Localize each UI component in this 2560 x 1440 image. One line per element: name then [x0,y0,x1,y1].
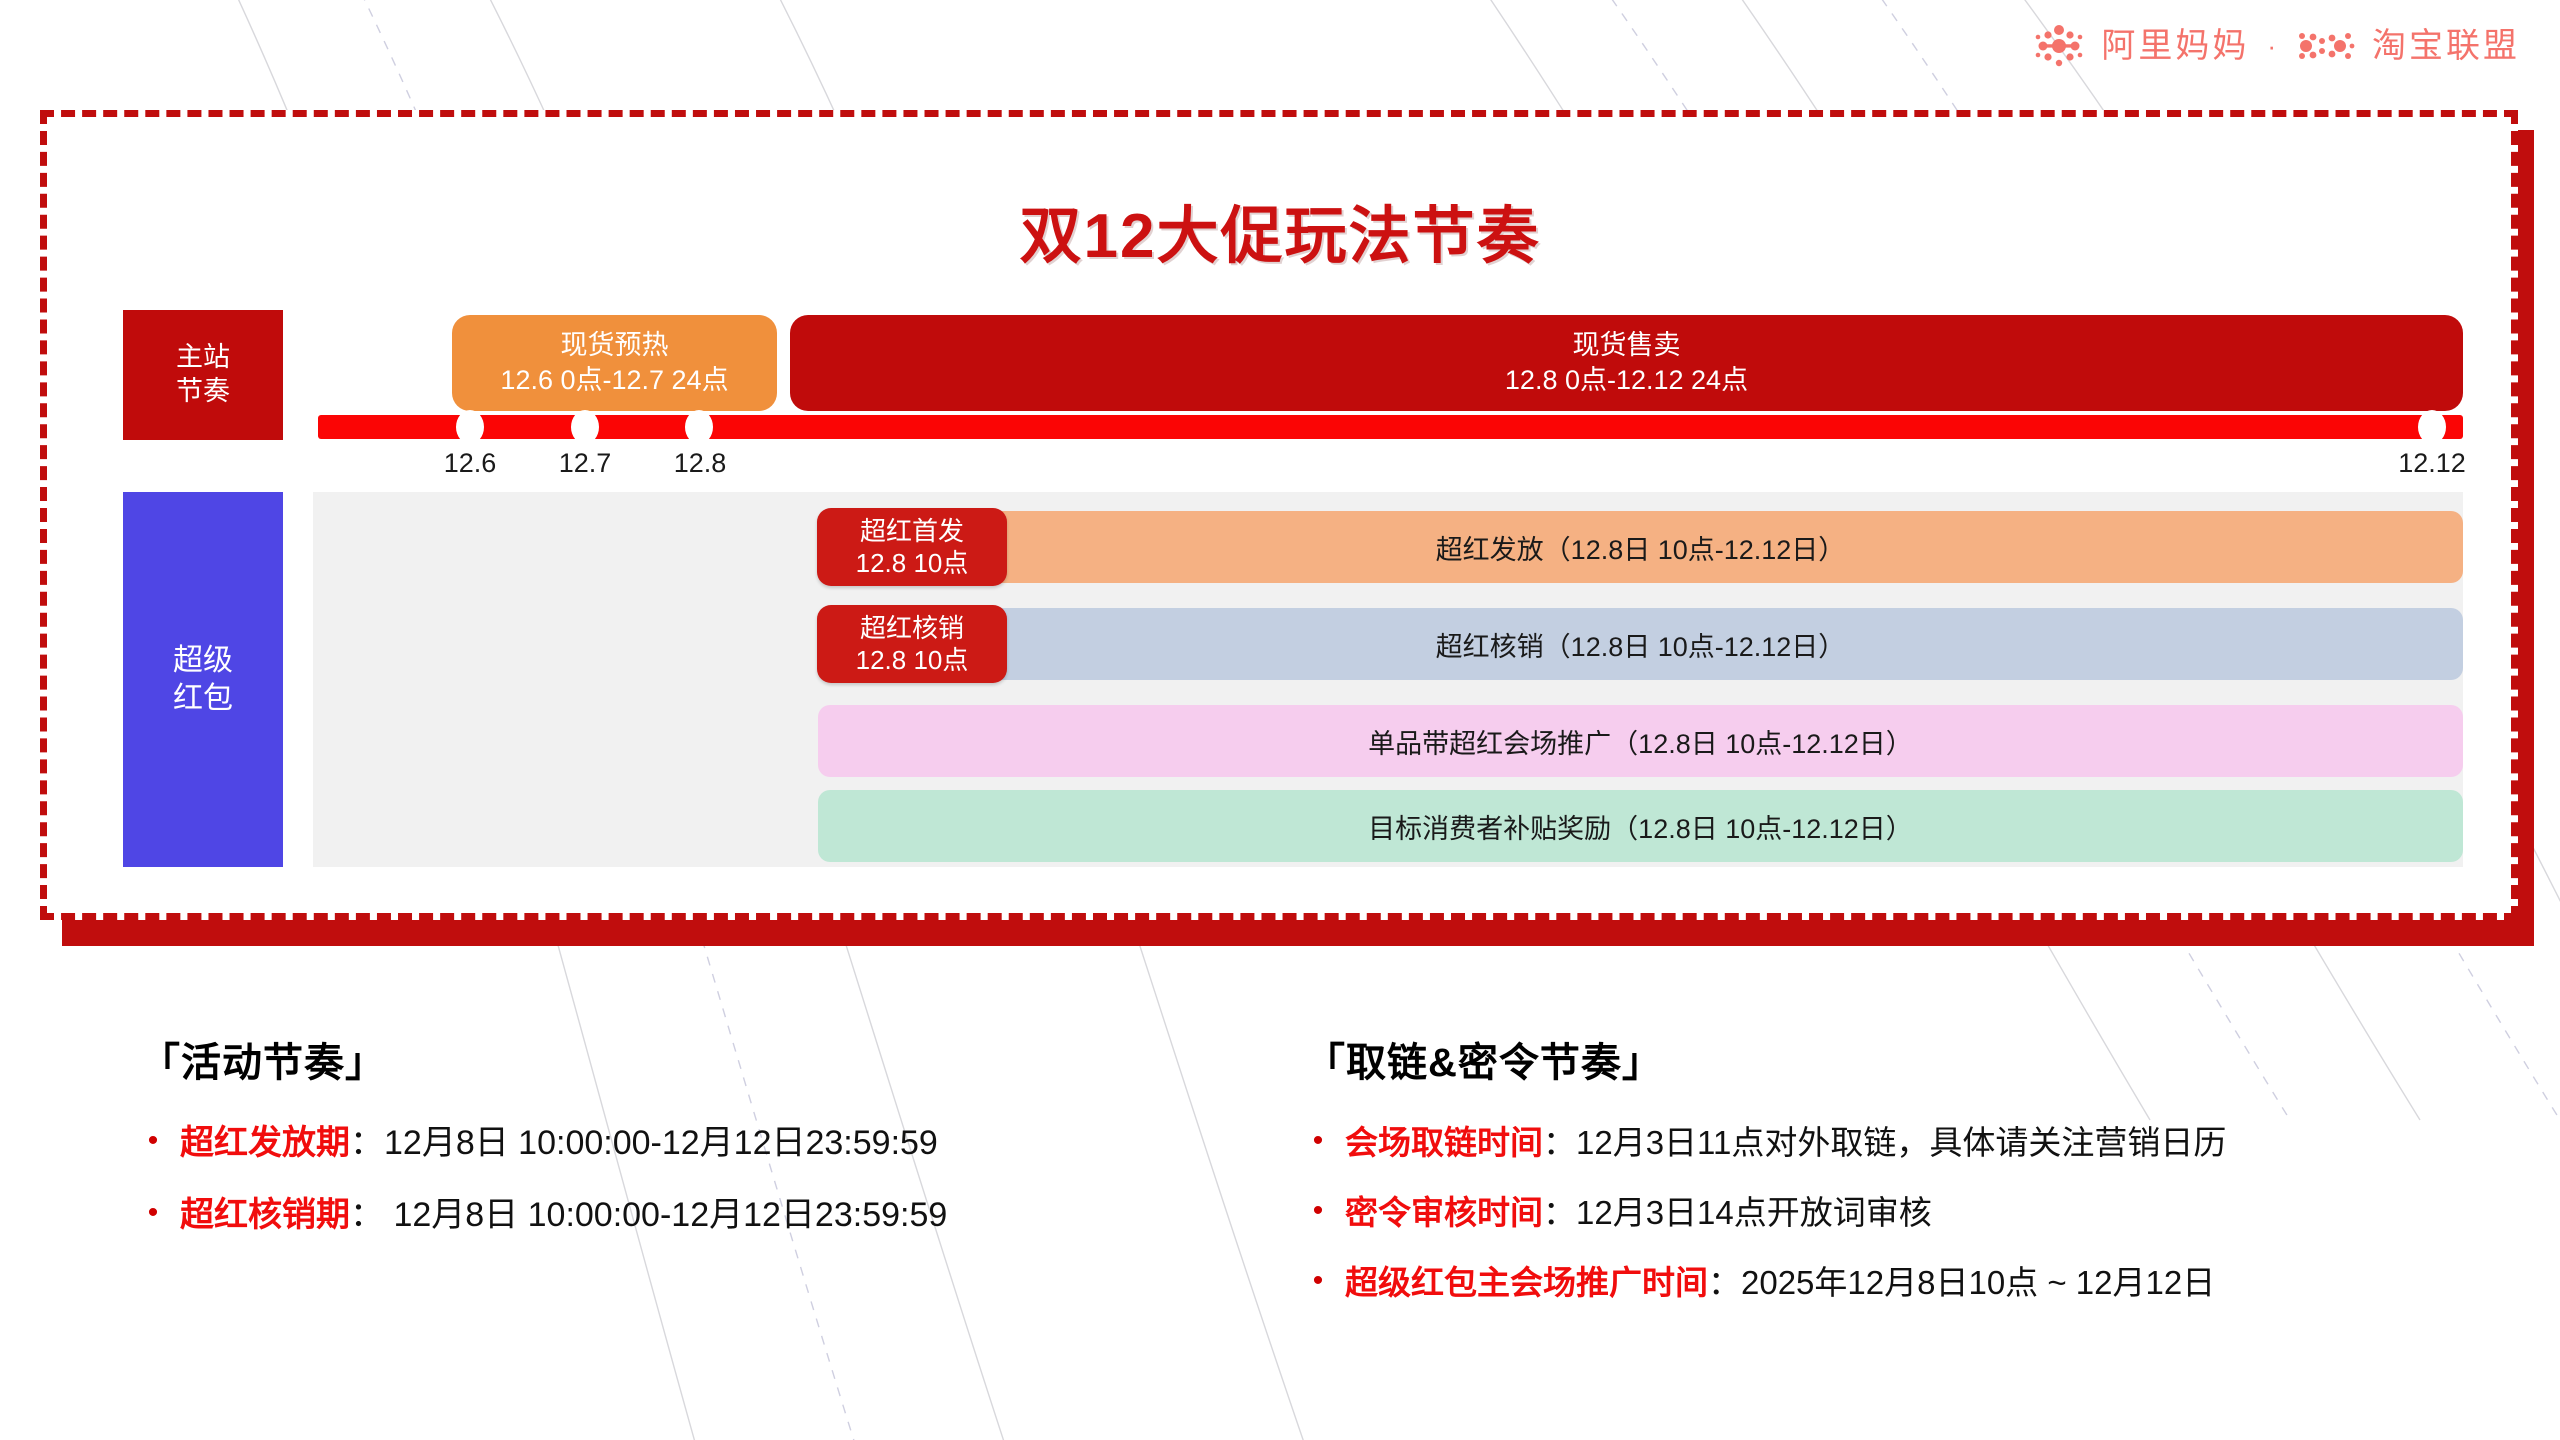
note-value: 2025年12月8日10点 ~ 12月12日 [1741,1264,2215,1301]
note-text: 超级红包主会场推广时间：2025年12月8日10点 ~ 12月12日 [1345,1262,2215,1304]
phase-preheat-name: 现货预热 [561,328,669,363]
timeline-dot-12-8 [685,410,713,444]
note-value: 12月8日 10:00:00-12月12日23:59:59 [384,1196,947,1234]
note-key: 会场取链时间 [1345,1124,1543,1161]
note-text: 超红发放期：12月8日 10:00:00-12月12日23:59:59 [180,1122,938,1166]
badge-2-time: 12.8 10点 [856,644,969,677]
phase-sale-range: 12.8 0点-12.12 24点 [1505,363,1748,398]
notes-activity-rhythm: 「活动节奏」 • 超红发放期：12月8日 10:00:00-12月12日23:5… [140,1030,1300,1265]
phase-sale-name: 现货售卖 [1573,328,1681,363]
note-item: • 超红核销期： 12月8日 10:00:00-12月12日23:59:59 [140,1194,1300,1238]
page-title: 双12大促玩法节奏 [0,185,2560,275]
track-hongbao-redeem: 超红核销（12.8日 10点-12.12日） [818,608,2463,680]
timeline-dot-12-6 [456,410,484,444]
timeline-tick-12-12: 12.12 [2398,448,2466,479]
bullet-icon: • [1305,1262,1331,1300]
note-item: • 超级红包主会场推广时间：2025年12月8日10点 ~ 12月12日 [1305,1262,2555,1304]
note-value: 12月3日14点开放词审核 [1576,1194,1932,1231]
note-sep: ： [350,1196,384,1234]
phase-sale: 现货售卖 12.8 0点-12.12 24点 [790,315,2463,411]
note-value: 12月8日 10:00:00-12月12日23:59:59 [384,1124,938,1162]
taobao-alliance-logo-icon [2294,29,2356,63]
bullet-icon: • [1305,1192,1331,1230]
brand-name-alimama: 阿里妈妈 [2101,29,2249,63]
slide-canvas: 阿里妈妈 · 淘宝联盟 双12大促玩法节奏 主站 节奏 现货预热 12.6 0点… [0,0,2560,1440]
track-item-venue-promo: 单品带超红会场推广（12.8日 10点-12.12日） [818,705,2463,777]
badge-1-time: 12.8 10点 [856,547,969,580]
bullet-icon: • [140,1194,166,1232]
badge-hongbao-first-release: 超红首发 12.8 10点 [817,508,1007,586]
row-label-main-site: 主站 节奏 [123,310,283,440]
note-sep: ： [1543,1124,1576,1161]
badge-2-title: 超红核销 [860,612,964,645]
timeline-tick-12-6: 12.6 [444,448,497,479]
timeline-dot-12-12 [2418,410,2446,444]
badge-1-title: 超红首发 [860,515,964,548]
notes-link-and-code-rhythm: 「取链&密令节奏」 • 会场取链时间：12月3日11点对外取链，具体请关注营销日… [1305,1030,2555,1333]
timeline-tick-12-7: 12.7 [559,448,612,479]
track-hongbao-issue: 超红发放（12.8日 10点-12.12日） [818,511,2463,583]
row-label-hongbao-line1: 超级 [173,642,233,680]
brand-lockup: 阿里妈妈 · 淘宝联盟 [2033,22,2520,70]
note-text: 超红核销期： 12月8日 10:00:00-12月12日23:59:59 [180,1194,947,1238]
row-label-hongbao-line2: 红包 [173,680,233,718]
note-item: • 会场取链时间：12月3日11点对外取链，具体请关注营销日历 [1305,1122,2555,1164]
timeline-tick-12-8: 12.8 [674,448,727,479]
phase-preheat: 现货预热 12.6 0点-12.7 24点 [452,315,777,411]
note-text: 会场取链时间：12月3日11点对外取链，具体请关注营销日历 [1345,1122,2226,1164]
note-value: 12月3日11点对外取链，具体请关注营销日历 [1576,1124,2226,1161]
notes-right-heading: 「取链&密令节奏」 [1305,1030,2555,1088]
row-label-main-site-line1: 主站 [176,341,230,375]
bullet-icon: • [1305,1122,1331,1160]
track-consumer-subsidy: 目标消费者补贴奖励（12.8日 10点-12.12日） [818,790,2463,862]
note-sep: ： [1543,1194,1576,1231]
badge-hongbao-redeem-start: 超红核销 12.8 10点 [817,605,1007,683]
note-key: 超级红包主会场推广时间 [1345,1264,1708,1301]
timeline-bar [318,415,2463,439]
bullet-icon: • [140,1122,166,1160]
note-text: 密令审核时间：12月3日14点开放词审核 [1345,1192,1932,1234]
brand-separator: · [2265,31,2278,62]
phase-preheat-range: 12.6 0点-12.7 24点 [500,363,728,398]
notes-left-heading: 「活动节奏」 [140,1030,1300,1088]
alimama-logo-icon [2033,22,2085,70]
note-sep: ： [1708,1264,1741,1301]
note-key: 超红发放期 [180,1124,350,1162]
timeline-dot-12-7 [571,410,599,444]
note-item: • 超红发放期：12月8日 10:00:00-12月12日23:59:59 [140,1122,1300,1166]
note-sep: ： [350,1124,384,1162]
note-key: 超红核销期 [180,1196,350,1234]
row-label-super-red-packet: 超级 红包 [123,492,283,867]
note-item: • 密令审核时间：12月3日14点开放词审核 [1305,1192,2555,1234]
note-key: 密令审核时间 [1345,1194,1543,1231]
row-label-main-site-line2: 节奏 [176,375,230,409]
brand-name-taobao-alliance: 淘宝联盟 [2372,29,2520,63]
